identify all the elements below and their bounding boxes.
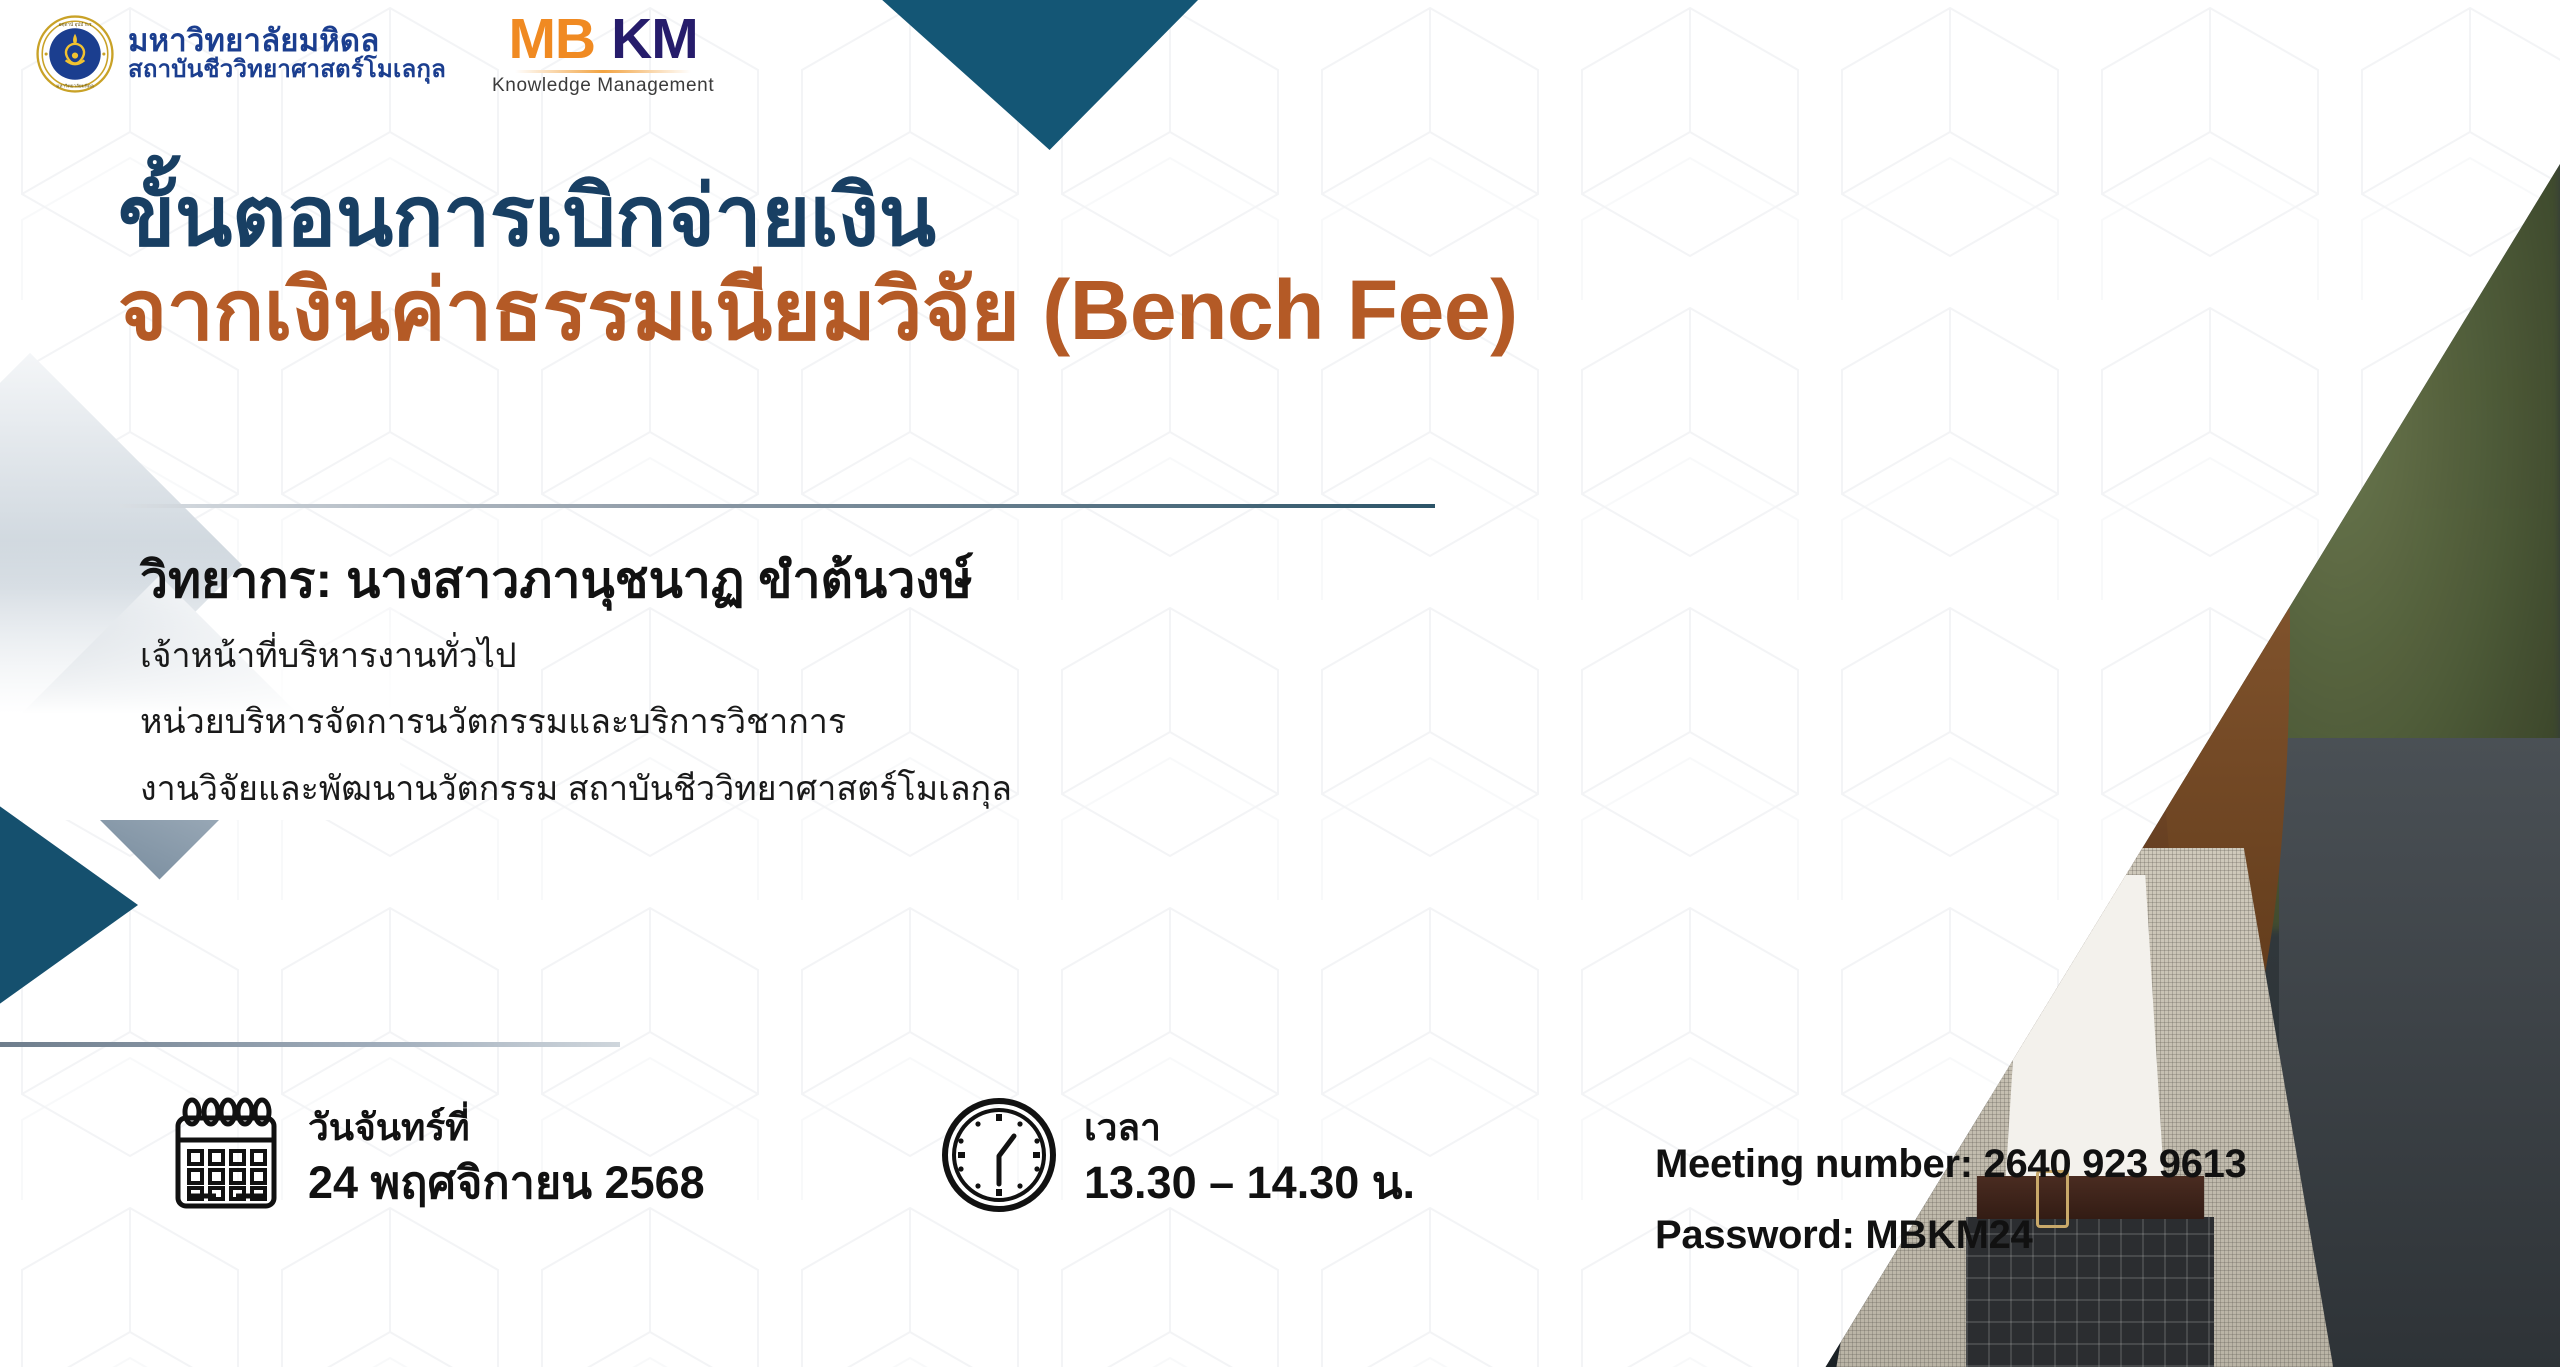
decor-left-triangle: [0, 755, 138, 1055]
event-time-label: เวลา: [1084, 1107, 1415, 1148]
speaker-role: เจ้าหน้าที่บริหารงานทั่วไป: [140, 636, 1012, 677]
university-name-th: มหาวิทยาลัยมหิดล: [128, 25, 446, 58]
decor-top-triangle: [880, 0, 1200, 150]
poster-headline: ขั้นตอนการเบิกจ่ายเงิน จากเงินค่าธรรมเนี…: [118, 172, 1518, 356]
mbkm-logo: MBKM Knowledge Management: [492, 12, 714, 97]
headline-divider: [120, 504, 1435, 508]
speaker-department: งานวิจัยและพัฒนานวัตกรรม สถาบันชีววิทยาศ…: [140, 769, 1012, 810]
mbkm-km-text: KM: [611, 7, 698, 71]
clock-icon: [940, 1096, 1058, 1219]
mahidol-seal-icon: อตฺตานํ อุปมํ กเร มหาวิทยาลัยมหิดล: [36, 15, 114, 93]
event-time-item: เวลา 13.30 – 14.30 น.: [940, 1096, 1415, 1219]
headline-line-2-th: จากเงินค่าธรรมเนียมวิจัย: [118, 263, 1042, 357]
mbkm-subtitle: Knowledge Management: [492, 75, 714, 97]
headline-line-2-en: (Bench Fee): [1042, 263, 1517, 357]
meeting-number: Meeting number: 2640 923 9613: [1655, 1142, 2247, 1187]
event-date-value: 24 พฤศจิกายน 2568: [308, 1158, 705, 1208]
calendar-icon: [170, 1096, 282, 1219]
meeting-details: Meeting number: 2640 923 9613 Password: …: [1655, 1142, 2247, 1258]
mbkm-mb-text: MB: [508, 7, 595, 71]
headline-line-1: ขั้นตอนการเบิกจ่ายเงิน: [118, 172, 1518, 262]
speaker-block: วิทยากร: นางสาวภานุชนาฏ ขำต้นวงษ์ เจ้าหน…: [140, 552, 1012, 810]
event-date-item: วันจันทร์ที่ 24 พฤศจิกายน 2568: [170, 1096, 705, 1219]
speaker-unit: หน่วยบริหารจัดการนวัตกรรมและบริการวิชากา…: [140, 702, 1012, 743]
mahidol-logo: อตฺตานํ อุปมํ กเร มหาวิทยาลัยมหิดล มหาวิ…: [36, 15, 446, 93]
speaker-name: วิทยากร: นางสาวภานุชนาฏ ขำต้นวงษ์: [140, 552, 1012, 610]
decor-bottom-rule: [0, 1042, 620, 1047]
headline-line-2: จากเงินค่าธรรมเนียมวิจัย (Bench Fee): [118, 266, 1518, 356]
event-time-value: 13.30 – 14.30 น.: [1084, 1158, 1415, 1208]
svg-text:มหาวิทยาลัยมหิดล: มหาวิทยาลัยมหิดล: [56, 83, 94, 88]
institute-name-th: สถาบันชีววิทยาศาสตร์โมเลกุล: [128, 57, 446, 82]
poster-header: อตฺตานํ อุปมํ กเร มหาวิทยาลัยมหิดล มหาวิ…: [36, 10, 714, 97]
meeting-password: Password: MBKM24: [1655, 1213, 2247, 1258]
event-date-label: วันจันทร์ที่: [308, 1107, 705, 1148]
webinar-poster: อตฺตานํ อุปมํ กเร มหาวิทยาลัยมหิดล มหาวิ…: [0, 0, 2560, 1367]
mbkm-underline: [515, 70, 691, 73]
